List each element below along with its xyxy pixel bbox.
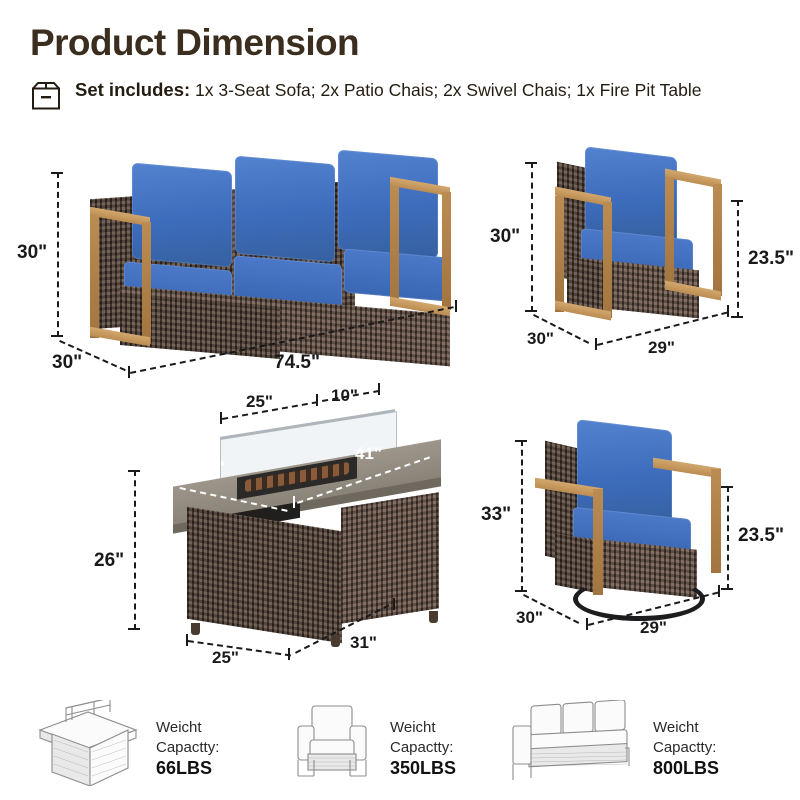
tick	[731, 200, 743, 202]
capacity-text-chair: Weicht Capactty: 350LBS	[390, 718, 456, 778]
sofa-depth-label: 30"	[52, 352, 82, 374]
swivel-chair-height-line	[521, 440, 523, 592]
sofa-height-line	[57, 172, 59, 337]
tick	[51, 172, 63, 174]
capacity-value: 66LBS	[156, 758, 219, 778]
swivel-chair-height-label: 33"	[481, 504, 511, 526]
capacity-label: Weicht Capactty:	[156, 718, 219, 758]
swivel-chair-width-label: 29"	[640, 618, 667, 638]
tick	[128, 628, 140, 630]
fire-pit-base-front-line	[188, 640, 291, 656]
tick	[220, 412, 222, 424]
sofa-height-label: 30"	[17, 242, 47, 264]
patio-chair-arm-height-label: 23.5"	[748, 248, 794, 270]
fire-pit-top-depth-label: 27"	[198, 458, 225, 478]
swivel-chair-arm-height-line	[727, 486, 729, 590]
tick	[595, 338, 597, 350]
fire-pit-height-line	[134, 470, 136, 630]
tick	[51, 335, 63, 337]
fire-pit-base-front-label: 25"	[212, 648, 239, 668]
tick	[727, 305, 729, 317]
patio-chair-arm-height-line	[737, 200, 739, 318]
sofa-width-label: 74.5"	[274, 352, 320, 374]
chair-lineart-icon	[290, 700, 376, 791]
fire-pit-glass-long-label: 25"	[246, 392, 273, 412]
fire-pit-glass-short-label: 10"	[331, 386, 358, 406]
capacity-value: 350LBS	[390, 758, 456, 778]
capacity-text-fire-pit: Weicht Capactty: 66LBS	[156, 718, 219, 778]
capacity-label: Weicht Capactty:	[653, 718, 719, 758]
tick	[721, 486, 733, 488]
tick	[128, 366, 130, 378]
fire-pit-illustration	[165, 415, 455, 640]
tick	[378, 383, 380, 395]
tick	[455, 300, 457, 312]
capacity-text-sofa: Weicht Capactty: 800LBS	[653, 718, 719, 778]
patio-chair-depth-label: 30"	[527, 329, 554, 349]
patio-chair-illustration	[545, 152, 735, 337]
swivel-chair-illustration	[535, 425, 740, 610]
infographic-canvas: Product Dimension Set includes: 1x 3-Sea…	[0, 0, 800, 800]
tick	[525, 162, 537, 164]
tick	[525, 310, 537, 312]
tick	[721, 588, 733, 590]
tick	[515, 590, 527, 592]
patio-chair-height-label: 30"	[490, 226, 520, 248]
swivel-chair-depth-label: 30"	[516, 608, 543, 628]
patio-chair-height-line	[531, 162, 533, 312]
tick	[586, 618, 588, 630]
set-includes-items: 1x 3-Seat Sofa; 2x Patio Chais; 2x Swive…	[195, 80, 701, 100]
tick	[186, 634, 188, 646]
patio-chair-width-label: 29"	[648, 338, 675, 358]
capacity-value: 800LBS	[653, 758, 719, 778]
tick	[293, 496, 295, 508]
tick	[731, 316, 743, 318]
tick	[515, 440, 527, 442]
tick	[393, 598, 395, 610]
fire-pit-table-lineart-icon	[32, 700, 144, 791]
fire-pit-top-width-label: 41"	[355, 444, 382, 464]
sofa-lineart-icon	[505, 700, 637, 791]
tick	[316, 394, 318, 406]
package-box-icon	[30, 80, 62, 112]
swivel-chair-arm-height-label: 23.5"	[738, 525, 784, 547]
set-includes-label: Set includes:	[75, 79, 190, 100]
set-includes-text: Set includes: 1x 3-Seat Sofa; 2x Patio C…	[75, 77, 775, 103]
capacity-label: Weicht Capactty:	[390, 718, 456, 758]
fire-pit-height-label: 26"	[94, 550, 124, 572]
tick	[128, 470, 140, 472]
fire-pit-base-side-label: 31"	[350, 633, 377, 653]
page-title: Product Dimension	[30, 22, 359, 64]
sofa-illustration	[72, 160, 452, 375]
tick	[718, 585, 720, 597]
tick	[288, 648, 290, 660]
